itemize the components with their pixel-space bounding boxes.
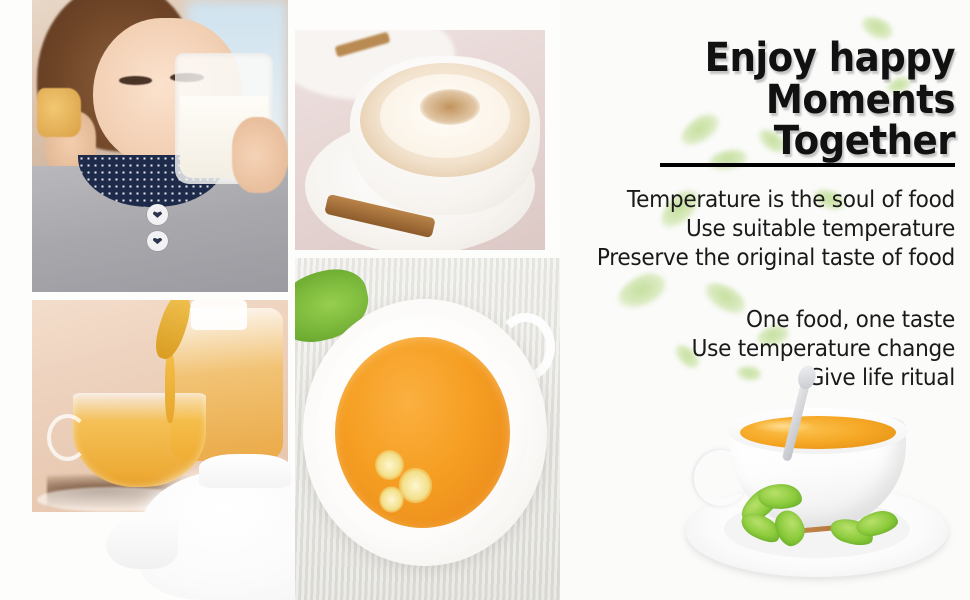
divider [660,163,955,167]
honey-jar-neck [191,300,247,330]
chrysanthemum-flower [375,450,404,481]
cocoa-dusting [420,89,480,124]
glass-teacup [73,393,206,486]
tagline-line: One food, one taste [584,306,955,335]
page-title: Enjoy happy Moments Together [588,38,955,163]
photo-child-drinking-milk [32,0,288,292]
heart-button-top [147,204,167,224]
kettle-spout [106,517,177,569]
tagline-line: Temperature is the soul of food [584,186,955,215]
tagline-line: Preserve the original taste of food [584,244,955,273]
tea-sheen [752,419,814,433]
headline-line-1: Enjoy happy Moments [588,38,955,121]
cookie [37,88,81,138]
tagline-line: Use suitable temperature [584,215,955,244]
kettle-lid [199,454,291,488]
photo-chrysanthemum-tea [295,258,560,600]
heart-button-bottom [147,231,167,251]
product-banner: Enjoy happy Moments Together Temperature… [0,0,970,600]
honey-drip [165,351,175,423]
headline-line-2: Together [588,121,955,163]
hand-holding-glass [232,117,288,193]
teacup-illustration [680,380,955,595]
tagline-block-primary: Temperature is the soul of food Use suit… [584,186,955,274]
eye-left [119,76,152,85]
text-panel: Enjoy happy Moments Together Temperature… [560,0,970,600]
tagline-line: Use temperature change [584,335,955,364]
photo-cappuccino [295,30,545,250]
chrysanthemum-flower [379,486,404,512]
